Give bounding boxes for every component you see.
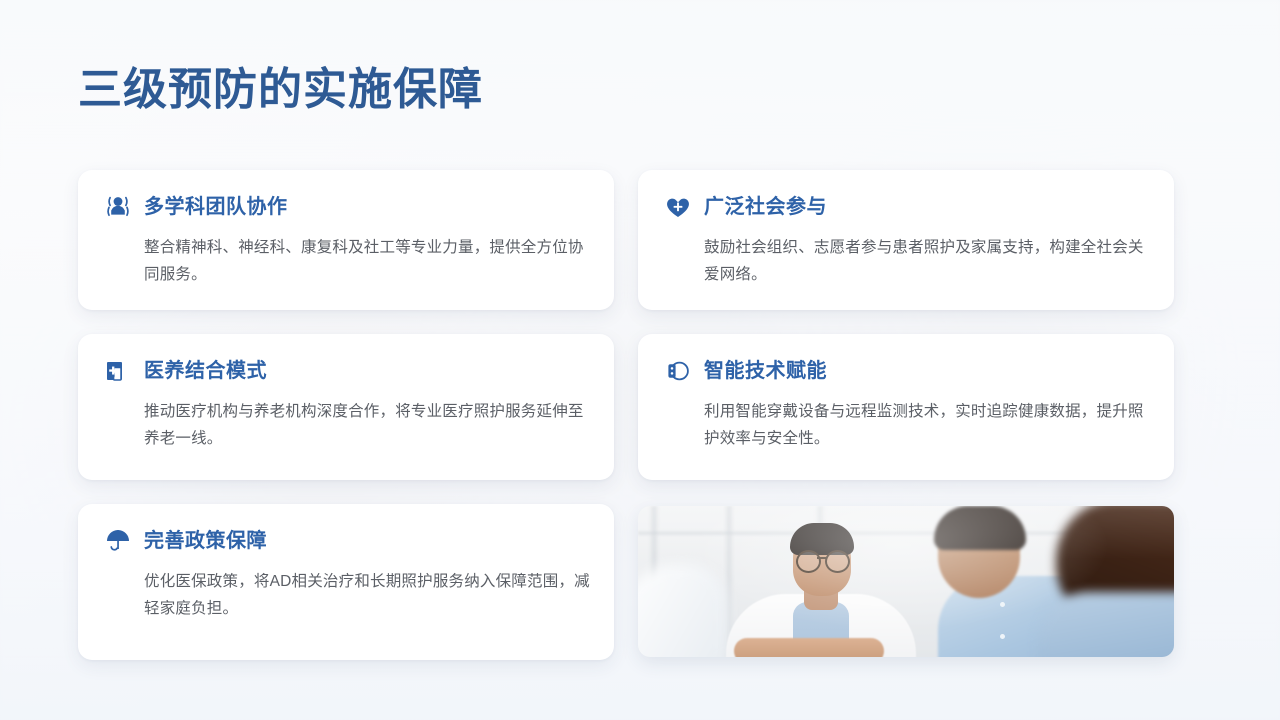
card-body-text: 推动医疗机构与养老机构深度合作，将专业医疗照护服务延伸至养老一线。 [144, 398, 590, 452]
card-header: 智能技术赋能 [664, 356, 1150, 386]
card-smart-technology[interactable]: 智能技术赋能 利用智能穿戴设备与远程监测技术，实时追踪健康数据，提升照护效率与安… [638, 334, 1174, 480]
page-title: 三级预防的实施保障 [78, 64, 483, 117]
users-team-icon [104, 193, 132, 221]
card-title: 智能技术赋能 [704, 361, 827, 381]
slide-canvas: 三级预防的实施保障 多学科团队协作 整合精神科、神经科、康复科及社工等专业力量，… [0, 0, 1280, 720]
smart-device-icon [664, 357, 692, 385]
hospital-plus-icon [104, 357, 132, 385]
card-body-text: 整合精神科、神经科、康复科及社工等专业力量，提供全方位协同服务。 [144, 234, 590, 288]
card-social-participation[interactable]: 广泛社会参与 鼓励社会组织、志愿者参与患者照护及家属支持，构建全社会关爱网络。 [638, 170, 1174, 310]
left-card-column: 多学科团队协作 整合精神科、神经科、康复科及社工等专业力量，提供全方位协同服务。… [78, 170, 614, 660]
card-medical-elderly-care[interactable]: 医养结合模式 推动医疗机构与养老机构深度合作，将专业医疗照护服务延伸至养老一线。 [78, 334, 614, 480]
card-header: 广泛社会参与 [664, 192, 1150, 222]
umbrella-icon [104, 527, 132, 555]
card-header: 医养结合模式 [104, 356, 590, 386]
heart-plus-icon [664, 193, 692, 221]
doctor-patient-consultation-photo [638, 506, 1174, 657]
card-multidisciplinary-team[interactable]: 多学科团队协作 整合精神科、神经科、康复科及社工等专业力量，提供全方位协同服务。 [78, 170, 614, 310]
right-card-column: 广泛社会参与 鼓励社会组织、志愿者参与患者照护及家属支持，构建全社会关爱网络。 … [638, 170, 1174, 504]
card-title: 医养结合模式 [144, 361, 267, 381]
card-policy-guarantee[interactable]: 完善政策保障 优化医保政策，将AD相关治疗和长期照护服务纳入保障范围，减轻家庭负… [78, 504, 614, 660]
card-title: 完善政策保障 [144, 531, 267, 551]
card-header: 完善政策保障 [104, 526, 590, 556]
card-body-text: 利用智能穿戴设备与远程监测技术，实时追踪健康数据，提升照护效率与安全性。 [704, 398, 1150, 452]
card-header: 多学科团队协作 [104, 192, 590, 222]
card-body-text: 优化医保政策，将AD相关治疗和长期照护服务纳入保障范围，减轻家庭负担。 [144, 568, 590, 622]
card-title: 多学科团队协作 [144, 197, 288, 217]
card-body-text: 鼓励社会组织、志愿者参与患者照护及家属支持，构建全社会关爱网络。 [704, 234, 1150, 288]
card-title: 广泛社会参与 [704, 197, 827, 217]
photo-light-overlay [638, 506, 1174, 657]
